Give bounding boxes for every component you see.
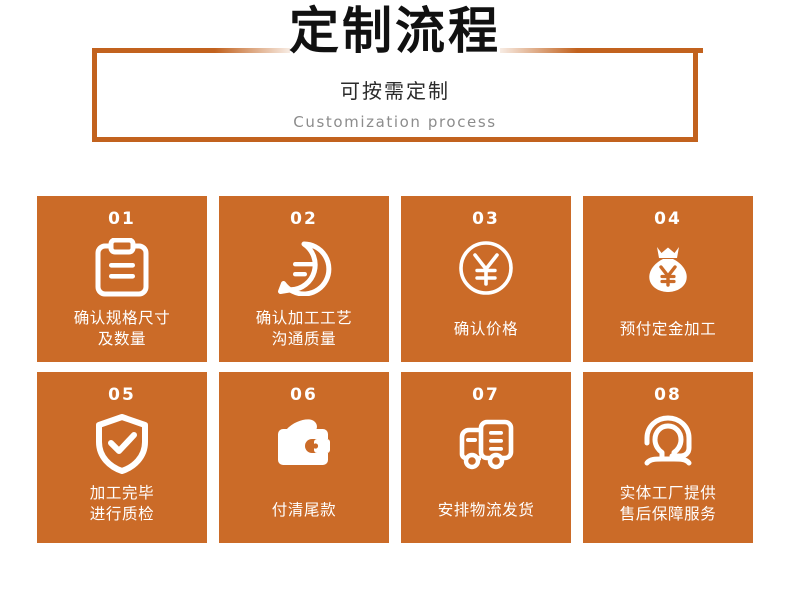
step-label: 确认规格尺寸 及数量 [37, 308, 207, 350]
step-label: 加工完毕 进行质检 [37, 483, 207, 525]
headset-support-icon [637, 413, 699, 475]
step-number: 06 [290, 385, 318, 405]
step-number: 03 [472, 209, 500, 229]
page-subtitle-en: Customization process [0, 112, 790, 132]
step-label: 确认加工工艺 沟通质量 [219, 308, 389, 350]
step-number: 01 [108, 209, 136, 229]
process-step-card-01[interactable]: 01 确认规格尺寸 及数量 [37, 196, 207, 362]
page-subtitle-cn: 可按需定制 [0, 78, 790, 104]
process-step-card-08[interactable]: 08 实体工厂提供 售后保障服务 [583, 372, 753, 543]
money-bag-icon [637, 237, 699, 299]
step-number: 08 [654, 385, 682, 405]
step-label: 实体工厂提供 售后保障服务 [583, 483, 753, 525]
page-header: 定制流程 可按需定制 Customization process [0, 0, 790, 180]
yuan-circle-icon [455, 237, 517, 299]
step-number: 07 [472, 385, 500, 405]
process-step-card-06[interactable]: 06 付清尾款 [219, 372, 389, 543]
process-step-card-07[interactable]: 07 安排物流发货 [401, 372, 571, 543]
step-label: 付清尾款 [219, 500, 389, 521]
shield-check-icon [91, 413, 153, 475]
process-step-card-04[interactable]: 04 预付定金加工 [583, 196, 753, 362]
page-title: 定制流程 [0, 2, 790, 60]
step-number: 05 [108, 385, 136, 405]
step-number: 02 [290, 209, 318, 229]
process-step-card-02[interactable]: 02 确认加工工艺 沟通质量 [219, 196, 389, 362]
chat-bubble-icon [273, 237, 335, 299]
step-label: 确认价格 [401, 319, 571, 340]
process-step-card-03[interactable]: 03 确认价格 [401, 196, 571, 362]
clipboard-icon [91, 237, 153, 299]
process-step-card-05[interactable]: 05 加工完毕 进行质检 [37, 372, 207, 543]
step-label: 预付定金加工 [583, 319, 753, 340]
delivery-truck-icon [455, 413, 517, 475]
wallet-icon [273, 413, 335, 475]
process-step-grid: 01 确认规格尺寸 及数量 02 确认加工工艺 沟通质量 03 [37, 196, 753, 543]
step-number: 04 [654, 209, 682, 229]
step-label: 安排物流发货 [401, 500, 571, 521]
